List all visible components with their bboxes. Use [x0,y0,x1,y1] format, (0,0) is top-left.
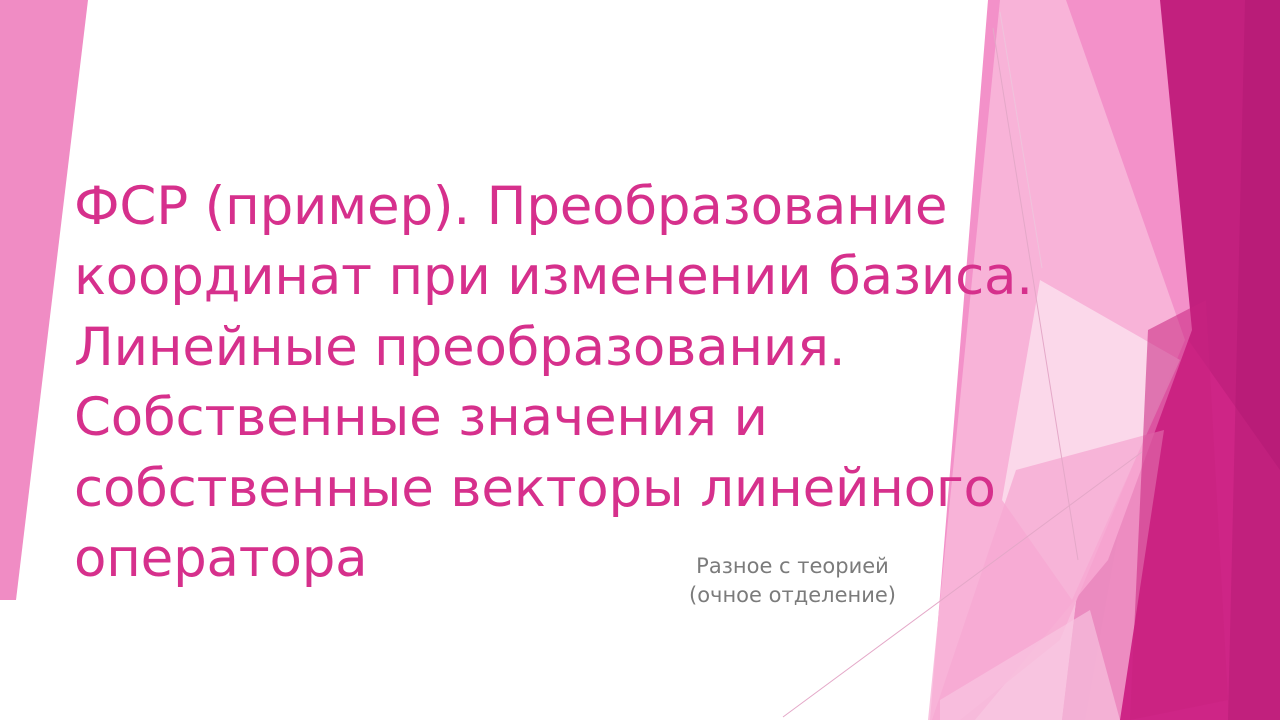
title-slide: ФСР (пример). Преобразование координат п… [0,0,1280,720]
decor-edge-sliver [1228,0,1280,720]
subtitle-line-primary: Разное с теорией [620,552,965,581]
title-block: ФСР (пример). Преобразование координат п… [74,172,1134,595]
decor-dark-sliver [1130,300,1228,720]
page-title: ФСР (пример). Преобразование координат п… [74,172,1134,595]
subtitle-line-secondary: (очное отделение) [620,581,965,610]
decor-bottom-wash [940,610,1120,720]
subtitle-block: Разное с теорией (очное отделение) [620,552,965,609]
